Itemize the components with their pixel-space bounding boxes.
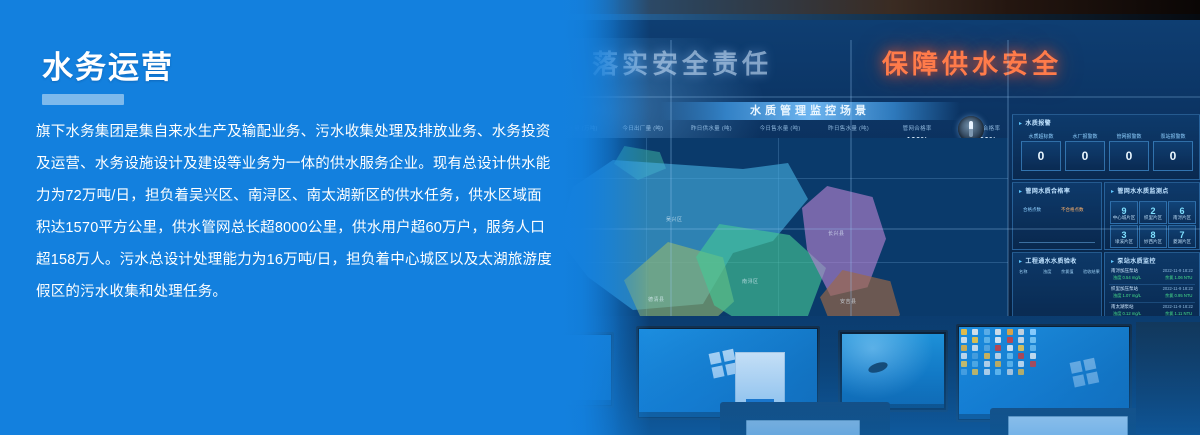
map-region-label: 吴兴区 <box>666 216 683 223</box>
station-metric-2: 余氯 0.95 NTU <box>1165 293 1192 299</box>
alarm-stat-label: 水厂报警数 <box>1066 133 1104 140</box>
station-metric-1: 浊度 1.07 mg/L <box>1113 293 1141 299</box>
alarm-stat-value: 0 <box>1110 149 1148 163</box>
station-row[interactable]: 织里加压泵站 2022-11-9 18:22 浊度 1.07 mg/L 余氯 0… <box>1109 285 1195 303</box>
acceptance-col: 浊度 <box>1043 269 1051 275</box>
station-time: 2022-11-9 18:22 <box>1163 304 1193 309</box>
promo-banner: 落实安全责任 保障供水安全 水质管理监控场景 今日供水量 (万吨) 今日出厂量 … <box>0 0 1200 435</box>
alarm-stat-label: 管网报警数 <box>1110 133 1148 140</box>
map-region-label: 德清县 <box>648 296 665 303</box>
alarm-stat[interactable]: 水厂报警数 0 <box>1065 141 1105 171</box>
wall-headline-right: 保障供水安全 <box>882 44 1062 81</box>
wall-seam <box>1007 40 1009 340</box>
kpi-label: 昨日供水量 (吨) <box>691 126 732 132</box>
acceptance-card-title: 工程通水水质验收 <box>1019 256 1077 265</box>
wall-ribbon: 水质管理监控场景 <box>660 102 960 120</box>
station-name: 南太湖泵站 <box>1111 304 1134 310</box>
acceptance-col: 验收结果 <box>1083 269 1100 275</box>
alarm-stat[interactable]: 水质超标数 0 <box>1021 141 1061 171</box>
alarm-stat-value: 0 <box>1066 149 1104 163</box>
station-metric-1: 浊度 0.54 mg/L <box>1113 275 1141 281</box>
rate-card-title: 管网水质合格率 <box>1019 186 1070 195</box>
point-cell[interactable]: 9 中心城片区 <box>1110 201 1138 224</box>
station-card-title: 泵站水质监控 <box>1111 256 1156 265</box>
kpi-label: 管网合格率 <box>903 126 932 132</box>
point-cell[interactable]: 6 南浔片区 <box>1168 201 1196 224</box>
map-region-label: 安吉县 <box>840 298 857 305</box>
control-room-photo: 落实安全责任 保障供水安全 水质管理监控场景 今日供水量 (万吨) 今日出厂量 … <box>520 0 1200 435</box>
point-cell-label: 埭溪片区 <box>1111 239 1137 245</box>
point-cell-label: 妙西片区 <box>1140 239 1166 245</box>
description-paragraph: 旗下水务集团是集自来水生产及输配业务、污水收集处理及排放业务、水务投资及运营、水… <box>36 116 556 308</box>
alarm-stat-label: 水质超标数 <box>1022 133 1060 140</box>
rate-chart-axis <box>1019 242 1095 243</box>
map-region-label: 长兴县 <box>828 230 845 237</box>
alarm-card: 水质报警 水质超标数 0 水厂报警数 0 管网报警数 0 泵站报警数 <box>1012 114 1200 180</box>
point-cell-label: 中心城片区 <box>1111 215 1137 221</box>
kpi-label: 昨日售水量 (吨) <box>828 126 869 132</box>
alarm-card-title: 水质报警 <box>1019 118 1051 127</box>
text-panel: 水务运营 旗下水务集团是集自来水生产及输配业务、污水收集处理及排放业务、水务投资… <box>0 0 620 435</box>
description-text: 旗下水务集团是集自来水生产及输配业务、污水收集处理及排放业务、水务投资及运营、水… <box>36 116 556 308</box>
acceptance-col: 名称 <box>1019 269 1027 275</box>
station-name: 织里加压泵站 <box>1111 286 1138 292</box>
map-region-label: 南浔区 <box>742 278 759 285</box>
dashboard-column: 水质报警 水质超标数 0 水厂报警数 0 管网报警数 0 泵站报警数 <box>1012 114 1198 340</box>
kpi-label: 今日售水量 (吨) <box>760 126 801 132</box>
station-row[interactable]: 南浔加压泵站 2022-11-9 18:22 浊度 0.54 mg/L 余氯 1… <box>1109 267 1195 285</box>
rate-legend-2: 不合格点数 <box>1061 207 1084 213</box>
wall-seam <box>670 40 672 340</box>
alarm-stat[interactable]: 泵站报警数 0 <box>1153 141 1193 171</box>
station-name: 南浔加压泵站 <box>1111 268 1138 274</box>
rate-card: 管网水质合格率 合格点数 不合格点数 <box>1012 182 1102 250</box>
wall-ribbon-title: 水质管理监控场景 <box>660 102 960 120</box>
alarm-stat[interactable]: 管网报警数 0 <box>1109 141 1149 171</box>
alarm-stat-label: 泵站报警数 <box>1154 133 1192 140</box>
station-metric-2: 余氯 1.06 NTU <box>1165 275 1192 281</box>
alarm-stat-value: 0 <box>1022 149 1060 163</box>
point-cell-label: 织里片区 <box>1140 215 1166 221</box>
station-time: 2022-11-9 18:22 <box>1163 268 1193 273</box>
point-cell[interactable]: 2 织里片区 <box>1139 201 1167 224</box>
point-cell-label: 菱湖片区 <box>1169 239 1195 245</box>
point-cell-label: 南浔片区 <box>1169 215 1195 221</box>
page-title: 水务运营 <box>42 52 174 83</box>
title-underline-rule <box>42 94 124 105</box>
station-time: 2022-11-9 18:22 <box>1163 286 1193 291</box>
rate-legend-1: 合格点数 <box>1023 207 1041 213</box>
points-card: 管网水水质监测点 9 中心城片区 2 织里片区 6 南浔片区 3 <box>1104 182 1200 250</box>
acceptance-col: 余氯值 <box>1061 269 1074 275</box>
alarm-stat-value: 0 <box>1154 149 1192 163</box>
wall-seam <box>850 40 852 340</box>
points-card-title: 管网水水质监测点 <box>1111 186 1169 195</box>
